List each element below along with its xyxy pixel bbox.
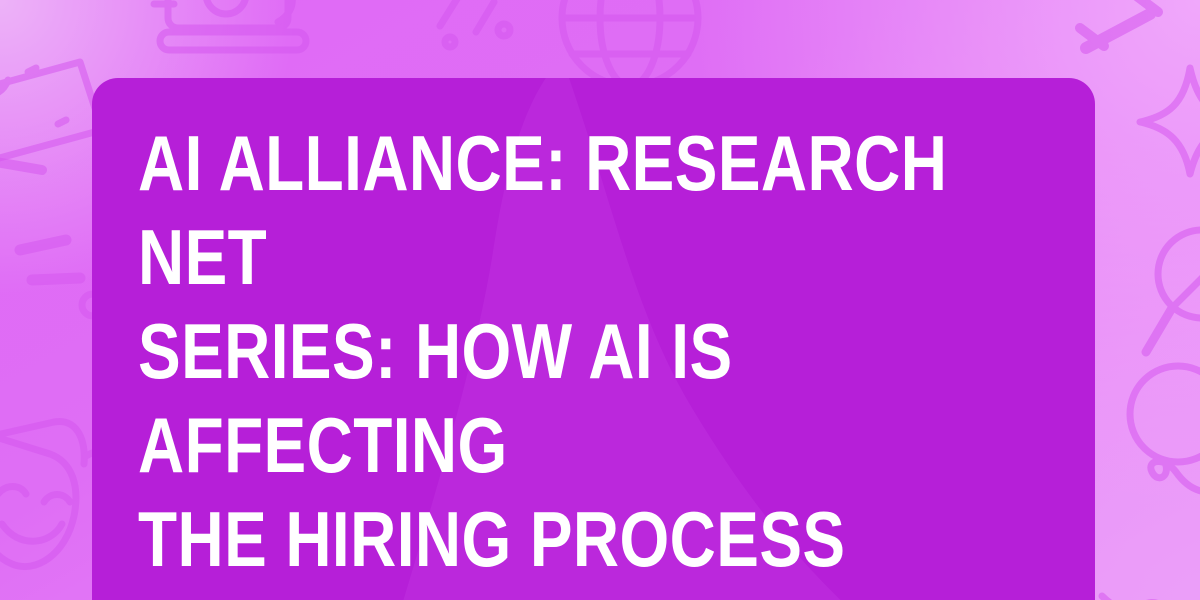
event-card: AI ALLIANCE: RESEARCH NET SERIES: HOW AI… <box>92 78 1095 600</box>
dash-icon <box>28 270 88 290</box>
event-card-content: AI ALLIANCE: RESEARCH NET SERIES: HOW AI… <box>92 78 1095 600</box>
dash-icon <box>0 156 54 176</box>
projector-icon <box>150 0 320 78</box>
sparkle-icon <box>1140 62 1200 178</box>
barbell-icon <box>1078 0 1188 70</box>
event-title: AI ALLIANCE: RESEARCH NET SERIES: HOW AI… <box>138 116 1049 586</box>
event-banner: AI ALLIANCE: RESEARCH NET SERIES: HOW AI… <box>0 0 1200 600</box>
swirl-icon <box>1098 580 1200 600</box>
dash-icon <box>16 236 76 256</box>
balloon-icon <box>1106 380 1200 510</box>
microphone-icon <box>1140 222 1200 412</box>
confetti-icon <box>430 0 520 52</box>
